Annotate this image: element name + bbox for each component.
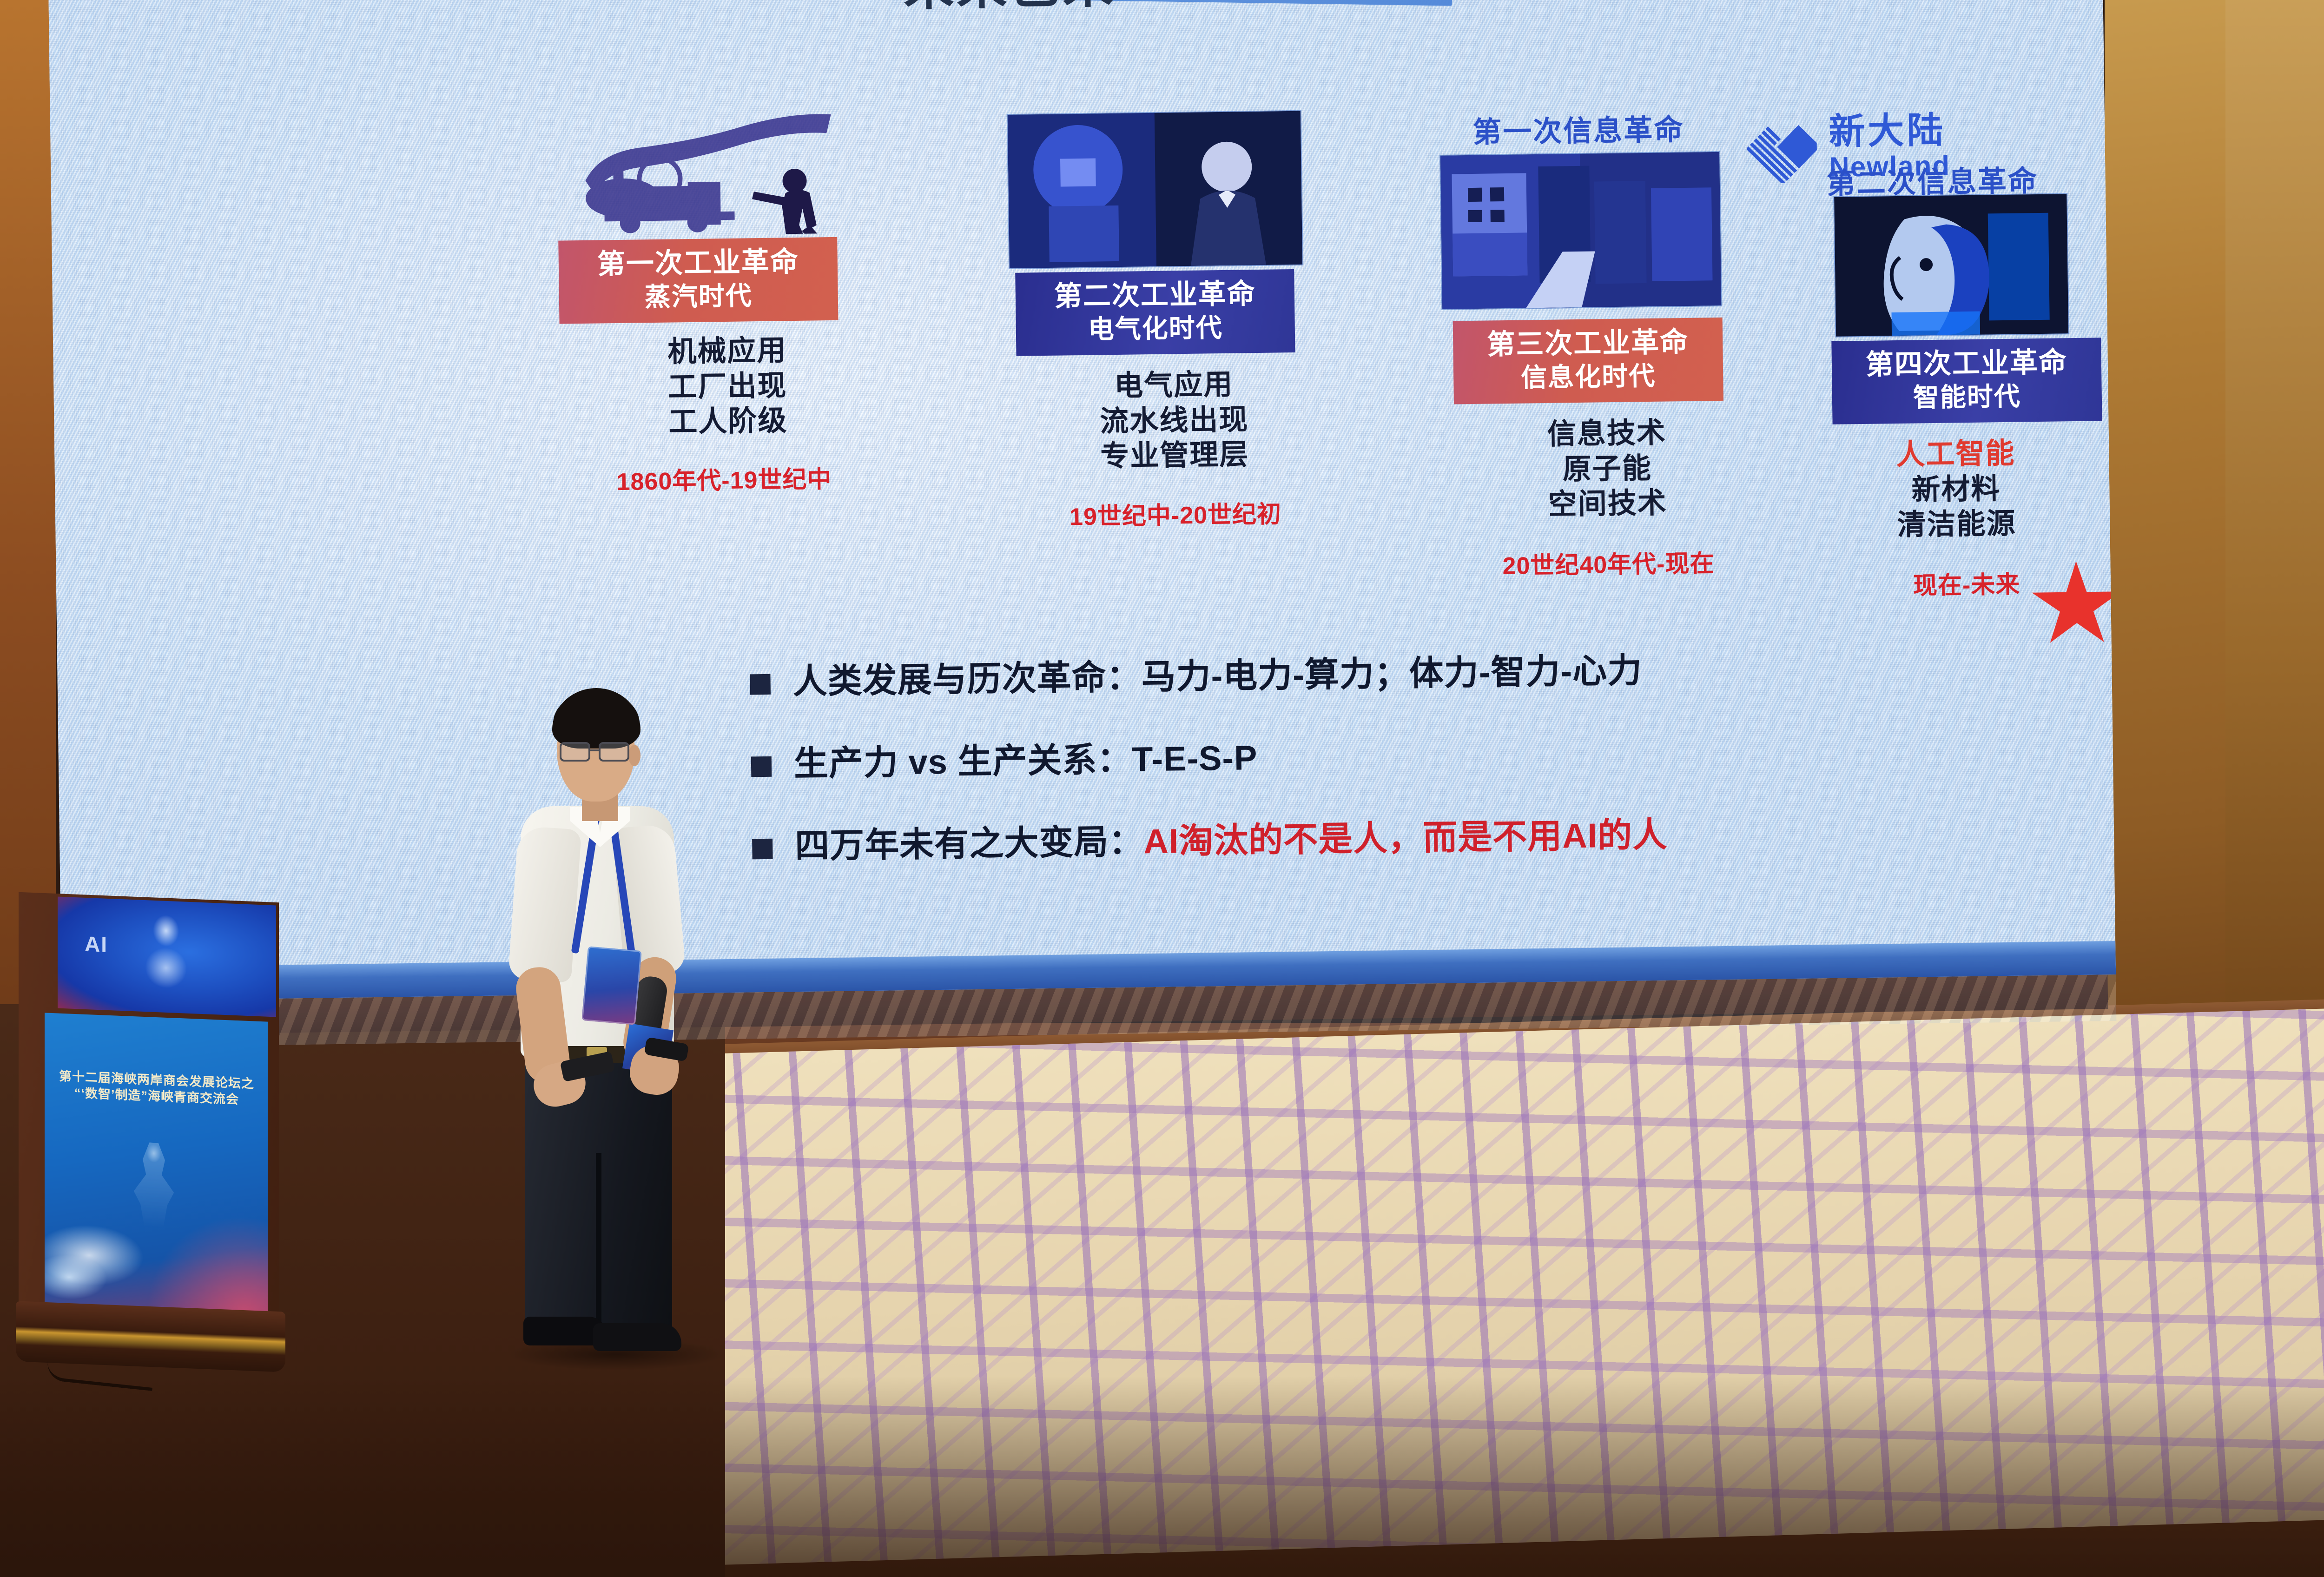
right-wall-panel (2225, 0, 2324, 1083)
speaker-shoe-right (593, 1323, 681, 1351)
computer-mainframe-room-photo-image (1440, 152, 1721, 309)
bullet-text-1: 人类发展与历次革命：马力-电力-算力；体力-智力-心力 (792, 650, 1643, 701)
bullet-item-1: 人类发展与历次革命：马力-电力-算力；体力-智力-心力 (750, 645, 2052, 702)
speaker-podium: AI 第十二届海峡两岸商会发展论坛之 “‘数智’制造”海峡青商交流会 (19, 897, 288, 1418)
edison-lightbulb-photo-image (1008, 111, 1302, 268)
podium-ai-label: AI (85, 931, 108, 957)
ai-android-head-photo-image (1834, 194, 2068, 337)
square-bullet-icon (751, 756, 772, 777)
conference-stage-scene: 未来已来 (0, 0, 2324, 1577)
era-column-2: 第二次工业革命 电气化时代 电气应用 流水线出现 专业管理层 19世纪中-20世… (1008, 111, 1339, 533)
podium-glow (147, 1212, 268, 1319)
podium-event-title: 第十二届海峡两岸商会发展论坛之 “‘数智’制造”海峡青商交流会 (57, 1068, 257, 1108)
era-feature: 空间技术 (1445, 484, 1770, 524)
era-feature-highlight: 人工智能 (1779, 434, 2116, 474)
era-badge-2: 第二次工业革命 电气化时代 (1015, 269, 1295, 356)
bullet-emphasis-3: AI淘汰的不是人，而是不用AI的人 (1143, 815, 1668, 861)
bullet-item-3: 四万年未有之大变局：AI淘汰的不是人，而是不用AI的人 (752, 810, 2054, 867)
era-badge-3-line2: 信息化时代 (1461, 359, 1716, 395)
speaker-figure (465, 688, 706, 1376)
right-wall (2105, 0, 2324, 1083)
era-column-4: 第四次工业革命 智能时代 人工智能 新材料 清洁能源 现在-未来 (1813, 193, 2116, 602)
square-bullet-icon (750, 674, 771, 695)
bullet-lead-3: 四万年未有之大变局： (795, 822, 1144, 866)
era-features-4: 人工智能 新材料 清洁能源 (1779, 434, 2116, 544)
bullet-lead-2: 生产力 vs 生产关系：T-E-S-P (793, 738, 1258, 783)
bullet-text-2: 生产力 vs 生产关系：T-E-S-P (793, 738, 1258, 783)
era-badge-1: 第一次工业革命 蒸汽时代 (558, 237, 838, 324)
era-feature: 专业管理层 (1012, 436, 1338, 476)
ai-robot-graphic-icon (127, 909, 202, 1005)
slide-bullet-list: 人类发展与历次革命：马力-电力-算力；体力-智力-心力 生产力 vs 生产关系：… (750, 645, 2054, 909)
era-feature: 电气应用 (1011, 366, 1337, 405)
conference-name-badge (581, 946, 642, 1025)
podium-base (16, 1301, 285, 1372)
era-features-3: 信息技术 原子能 空间技术 (1444, 414, 1770, 524)
speaker-hair-front (553, 691, 640, 735)
speaker-leg-split (596, 1153, 601, 1334)
presentation-slide: 未来已来 (48, 0, 2116, 1048)
era-feature: 信息技术 (1444, 414, 1769, 454)
era-badge-4: 第四次工业革命 智能时代 (1831, 338, 2102, 424)
era-badge-4-line2: 智能时代 (1839, 379, 2094, 415)
label-first-information-revolution: 第一次信息革命 (1472, 106, 1684, 151)
era-feature: 清洁能源 (1780, 505, 2116, 545)
era-date-2: 19世纪中-20世纪初 (1013, 494, 1339, 533)
era-feature: 工人阶级 (556, 402, 900, 441)
era-badge-2-line2: 电气化时代 (1023, 311, 1287, 346)
era-badge-3: 第三次工业革命 信息化时代 (1453, 318, 1723, 404)
era-badge-4-line1: 第四次工业革命 (1839, 344, 2094, 382)
era-feature: 新材料 (1779, 470, 2116, 510)
era-badge-2-line1: 第二次工业革命 (1023, 276, 1287, 314)
era-date-1: 1860年代-19世纪中 (547, 458, 901, 498)
bullet-text-3: 四万年未有之大变局：AI淘汰的不是人，而是不用AI的人 (795, 815, 1668, 866)
slide-title: 未来已来 (903, 0, 1116, 20)
era-column-3: 第三次工业革命 信息化时代 信息技术 原子能 空间技术 20世纪40年代-现在 (1440, 152, 1771, 582)
square-bullet-icon (752, 839, 773, 860)
era-features-2: 电气应用 流水线出现 专业管理层 (1011, 366, 1338, 476)
steam-engine-engraving-image (542, 70, 889, 237)
era-feature: 原子能 (1444, 449, 1770, 489)
floor-shadow (0, 1376, 2324, 1577)
title-underline-rule (48, 0, 1452, 6)
era-column-1: 第一次工业革命 蒸汽时代 机械应用 工厂出现 工人阶级 1860年代-19世纪中 (542, 70, 901, 498)
bullet-lead-1: 人类发展与历次革命：马力-电力-算力；体力-智力-心力 (792, 651, 1643, 701)
era-feature: 流水线出现 (1011, 401, 1337, 440)
podium-top-screen: AI (58, 897, 276, 1017)
speaker-sleeve-left (508, 826, 582, 983)
era-badge-1-line1: 第一次工业革命 (566, 244, 830, 282)
era-date-3: 20世纪40年代-现在 (1446, 543, 1771, 582)
led-screen: 未来已来 (48, 0, 2116, 1048)
era-features-1: 机械应用 工厂出现 工人阶级 (555, 331, 900, 442)
speaker-glasses-icon (560, 742, 635, 763)
era-feature: 机械应用 (555, 331, 899, 371)
era-badge-3-line1: 第三次工业革命 (1460, 324, 1716, 362)
bullet-item-2: 生产力 vs 生产关系：T-E-S-P (751, 728, 2053, 784)
newland-logo-cn: 新大陆 (1829, 112, 1950, 149)
era-badge-1-line2: 蒸汽时代 (566, 278, 831, 314)
era-feature: 工厂出现 (555, 367, 900, 406)
podium-front-panel: 第十二届海峡两岸商会发展论坛之 “‘数智’制造”海峡青商交流会 (45, 1013, 268, 1319)
